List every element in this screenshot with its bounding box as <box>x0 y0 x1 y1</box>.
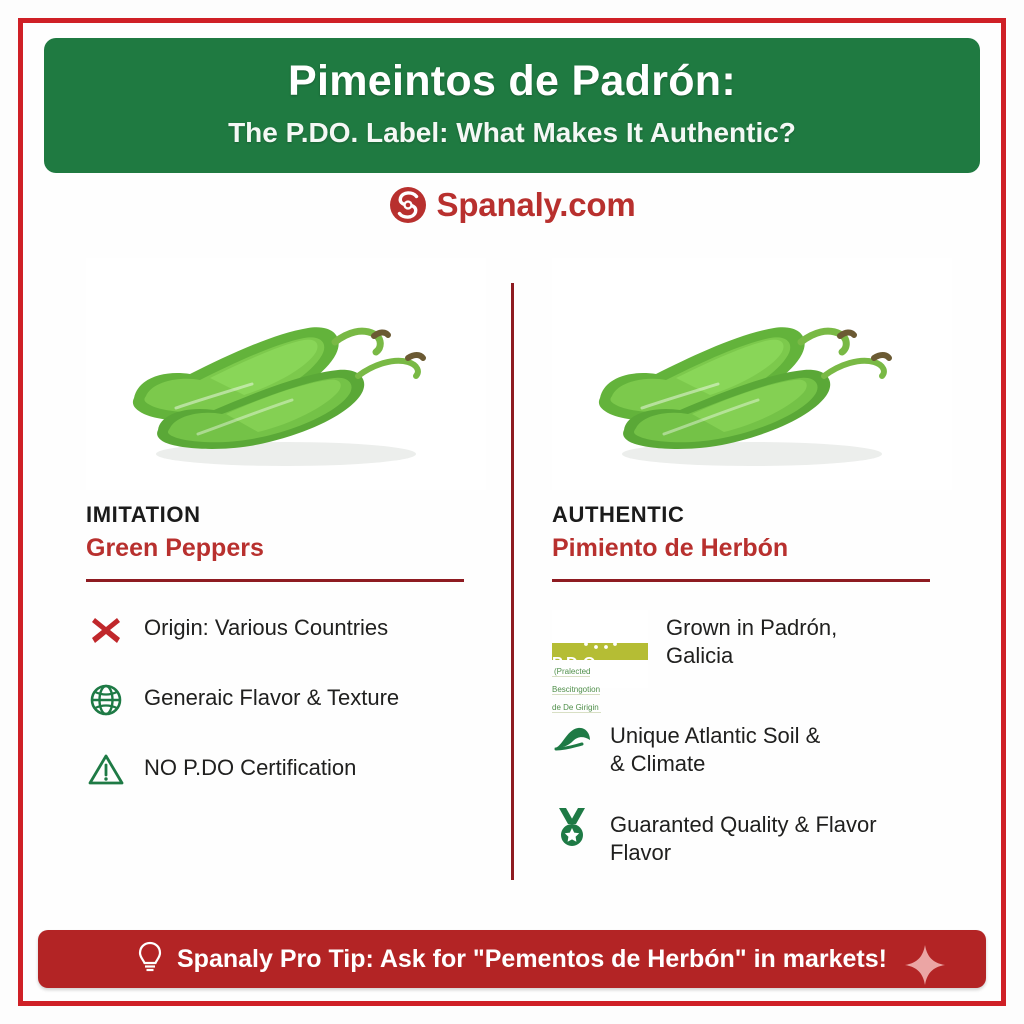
imitation-heading: IMITATION Green Peppers <box>86 502 506 563</box>
warning-triangle-icon <box>86 750 126 790</box>
cross-icon <box>86 610 126 650</box>
pdo-badge-icon: P.D.O. (Pralected Bescitngotion de De Gi… <box>552 610 648 688</box>
authentic-subhead: Pimiento de Herbón <box>552 534 972 563</box>
imitation-kicker: IMITATION <box>86 502 506 528</box>
list-item-text: Grown in Padrón, Galicia <box>666 610 837 669</box>
authentic-list: P.D.O. (Pralected Bescitngotion de De Gi… <box>552 610 972 866</box>
page-subtitle: The P.DO. Label: What Makes It Authentic… <box>228 118 796 147</box>
list-item: Unique Atlantic Soil & & Climate <box>552 718 972 777</box>
list-item-text: Guaranted Quality & Flavor Flavor <box>610 807 877 866</box>
list-item: Origin: Various Countries <box>86 610 506 650</box>
pro-tip-text: Spanaly Pro Tip: Ask for "Pementos de He… <box>177 945 887 974</box>
brand-name: Spanaly.com <box>437 186 636 224</box>
list-item: Guaranted Quality & Flavor Flavor <box>552 807 972 866</box>
header-banner: Pimeintos de Padrón: The P.DO. Label: Wh… <box>44 38 980 173</box>
imitation-list: Origin: Various Countries Generaic Flavo… <box>86 610 506 790</box>
green-peppers-photo <box>86 258 486 490</box>
lightbulb-icon <box>137 940 163 979</box>
infographic-poster: Pimeintos de Padrón: The P.DO. Label: Wh… <box>0 0 1024 1024</box>
list-item-text: NO P.DO Certification <box>144 750 356 782</box>
globe-icon <box>86 680 126 720</box>
authentic-rule <box>552 579 930 582</box>
list-item: Generaic Flavor & Texture <box>86 680 506 720</box>
sparkle-icon <box>904 944 946 991</box>
pro-tip-banner: Spanaly Pro Tip: Ask for "Pementos de He… <box>38 930 986 988</box>
wave-icon <box>552 718 592 758</box>
list-item: NO P.DO Certification <box>86 750 506 790</box>
padron-peppers-photo <box>552 258 952 490</box>
authentic-kicker: AUTHENTIC <box>552 502 972 528</box>
list-item-text: Origin: Various Countries <box>144 610 388 642</box>
brand-lockup: Spanaly.com <box>0 186 1024 224</box>
list-item-text: Unique Atlantic Soil & & Climate <box>610 718 820 777</box>
column-authentic: AUTHENTIC Pimiento de Herbón <box>552 258 972 896</box>
s-swirl-logo-icon <box>389 186 427 224</box>
column-divider <box>511 283 514 880</box>
list-item: P.D.O. (Pralected Bescitngotion de De Gi… <box>552 610 972 688</box>
column-imitation: IMITATION Green Peppers Origin: Various … <box>86 258 506 820</box>
list-item-text: Generaic Flavor & Texture <box>144 680 399 712</box>
medal-icon <box>552 807 592 847</box>
page-title: Pimeintos de Padrón: <box>288 59 736 104</box>
imitation-subhead: Green Peppers <box>86 534 506 563</box>
authentic-heading: AUTHENTIC Pimiento de Herbón <box>552 502 972 563</box>
imitation-rule <box>86 579 464 582</box>
